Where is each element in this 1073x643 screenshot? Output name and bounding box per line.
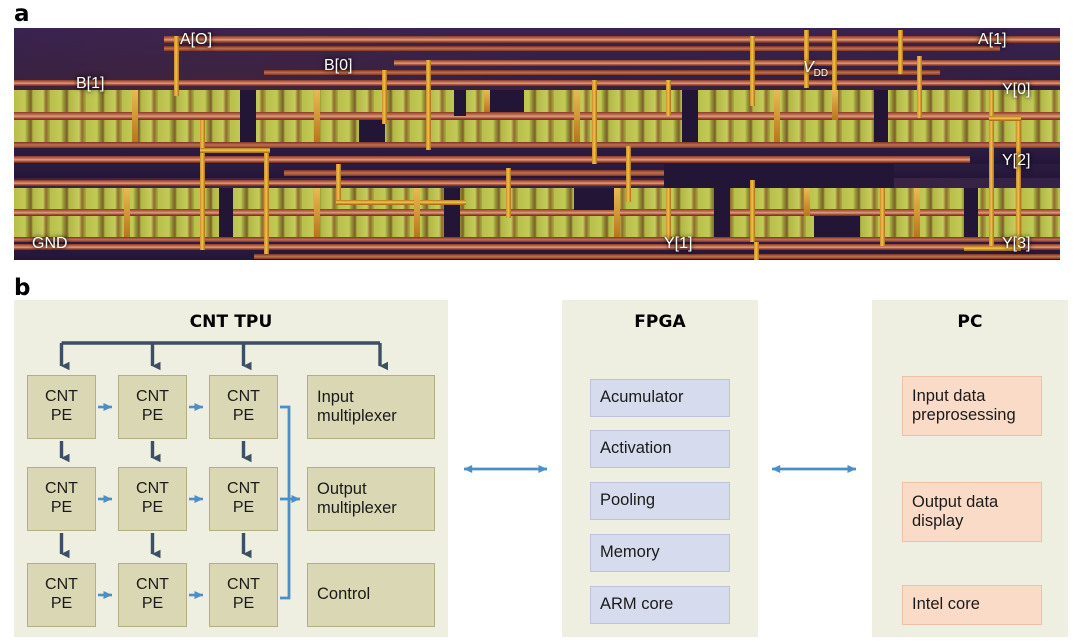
routing-gap [444,188,460,237]
interconnect-via [754,242,759,260]
pe-label-line2: PE [142,595,163,614]
fpga-block-label: Activation [600,439,672,458]
pc-block-line2: display [912,512,963,531]
interconnect-link [200,148,270,153]
metal-line [14,244,1060,250]
routing-gap [714,188,730,237]
section-title-cnt-tpu: CNT TPU [14,312,448,332]
panel-a-letter: a [14,3,30,26]
metal-line [164,36,1060,43]
interconnect-link [989,116,1021,121]
interconnect-link [336,200,466,205]
routing-gap [814,216,860,237]
pe-label-line2: PE [142,499,163,518]
pe-label-line2: PE [233,595,254,614]
pe-label-line1: CNT [136,480,169,499]
section-title-pc: PC [872,312,1068,332]
interconnect-via [989,90,994,250]
fpga-block-label: Memory [600,543,660,562]
metal-line [14,156,970,163]
micrograph-label-gnd: GND [32,236,68,252]
metal-line [254,254,1060,259]
cnt-pe-r2c1[interactable]: CNT PE [27,467,96,531]
routing-gap [219,188,233,237]
pe-label-line2: PE [51,595,72,614]
pe-label-line2: PE [142,407,163,426]
pc-block-input-data-preprosessing[interactable]: Input data preprosessing [902,376,1042,436]
interconnect-via [336,164,341,204]
interconnect-via [666,188,671,240]
pe-label-line1: CNT [45,388,78,407]
vdd-subscript: DD [814,68,828,79]
interconnect-via [917,56,922,118]
pe-label-line2: PE [51,407,72,426]
device-band [14,188,1060,209]
routing-gap [240,90,256,142]
micrograph-label-b0: B[0] [324,58,352,74]
interconnect-via [750,36,755,106]
routing-gap [682,90,698,142]
control-block[interactable]: Control [307,563,435,627]
pc-block-intel-core[interactable]: Intel core [902,585,1042,625]
interconnect-via [382,70,387,124]
micrograph-label-y1: Y[1] [664,236,692,252]
section-title-fpga: FPGA [562,312,758,332]
input-multiplexer-line2: multiplexer [317,407,397,426]
pe-label-line2: PE [233,407,254,426]
gate-via [832,90,838,120]
fpga-block-memory[interactable]: Memory [590,534,730,572]
interconnect-via [426,60,431,150]
pc-block-line1: Intel core [912,595,980,614]
routing-gap [454,90,466,116]
cnt-pe-r1c3[interactable]: CNT PE [209,375,278,439]
pc-block-line1: Output data [912,493,998,512]
metal-line [14,112,1060,120]
pe-label-line1: CNT [136,388,169,407]
fpga-block-label: Pooling [600,491,655,510]
micrograph-label-vdd: VDD [803,60,828,79]
routing-gap [964,188,978,237]
input-multiplexer-block[interactable]: Input multiplexer [307,375,435,439]
fpga-block-acumulator[interactable]: Acumulator [590,379,730,417]
cnt-pe-r2c3[interactable]: CNT PE [209,467,278,531]
pe-label-line1: CNT [227,388,260,407]
metal-line [14,209,1060,216]
micrograph-label-b1: B[1] [76,76,104,92]
device-band [14,90,1060,112]
gate-via [124,188,130,237]
gate-via [574,90,580,142]
pe-label-line1: CNT [136,576,169,595]
micrograph-panel-a: A[O] A[1] B[1] B[0] VDD Y[0] Y[2] Y[1] Y… [14,28,1060,260]
output-multiplexer-line1: Output [317,480,367,499]
pc-block-output-data-display[interactable]: Output data display [902,482,1042,542]
pe-label-line1: CNT [45,480,78,499]
input-multiplexer-line1: Input [317,388,354,407]
interconnect-via [1016,116,1021,246]
fpga-block-activation[interactable]: Activation [590,430,730,468]
pc-block-line2: preprosessing [912,406,1016,425]
interconnect-via [880,188,885,246]
output-multiplexer-block[interactable]: Output multiplexer [307,467,435,531]
fpga-block-arm-core[interactable]: ARM core [590,586,730,624]
interconnect-via [264,148,269,254]
panel-b-letter: b [14,277,30,300]
gate-via [314,188,320,237]
interconnect-via [898,30,903,74]
device-band [14,120,1060,142]
vdd-symbol: V [803,59,814,76]
metal-line [394,60,1060,66]
cnt-pe-r3c3[interactable]: CNT PE [209,563,278,627]
micrograph-label-y3: Y[3] [1002,236,1030,252]
metal-line [264,70,940,75]
micrograph-label-a1: A[1] [978,32,1006,48]
interconnect-via [666,80,671,116]
interconnect-via [506,168,511,218]
cnt-pe-r2c2[interactable]: CNT PE [118,467,187,531]
routing-gap [484,90,524,112]
fpga-block-pooling[interactable]: Pooling [590,482,730,520]
cnt-pe-r3c2[interactable]: CNT PE [118,563,187,627]
cnt-pe-r1c2[interactable]: CNT PE [118,375,187,439]
interconnect-via [750,180,755,242]
routing-gap [874,90,888,142]
pe-label-line2: PE [51,499,72,518]
pc-block-line1: Input data [912,387,985,406]
gate-via [914,188,920,237]
interconnect-via [200,120,205,250]
gate-via [804,188,810,216]
pe-label-line1: CNT [227,480,260,499]
interconnect-via [626,146,631,202]
fpga-block-label: Acumulator [600,388,683,407]
gate-via [774,90,780,142]
device-band [14,216,1060,237]
pe-label-line1: CNT [45,576,78,595]
interconnect-via [174,36,179,96]
interconnect-via [592,80,597,164]
fpga-block-label: ARM core [600,595,673,614]
gate-via [614,188,620,237]
gate-via [414,188,420,237]
metal-line [164,46,1000,51]
cnt-pe-r1c1[interactable]: CNT PE [27,375,96,439]
micrograph-label-a0: A[O] [180,32,212,48]
micrograph-label-y0: Y[0] [1002,82,1030,98]
gate-via [314,90,320,142]
gate-via [484,90,490,112]
metal-line [14,80,1060,86]
routing-gap [664,164,894,188]
control-label: Control [317,585,370,604]
micrograph-label-y2: Y[2] [1002,153,1030,169]
routing-gap [574,188,614,210]
gate-via [132,90,138,142]
cnt-pe-r3c1[interactable]: CNT PE [27,563,96,627]
pe-label-line2: PE [233,499,254,518]
pe-label-line1: CNT [227,576,260,595]
output-multiplexer-line2: multiplexer [317,499,397,518]
